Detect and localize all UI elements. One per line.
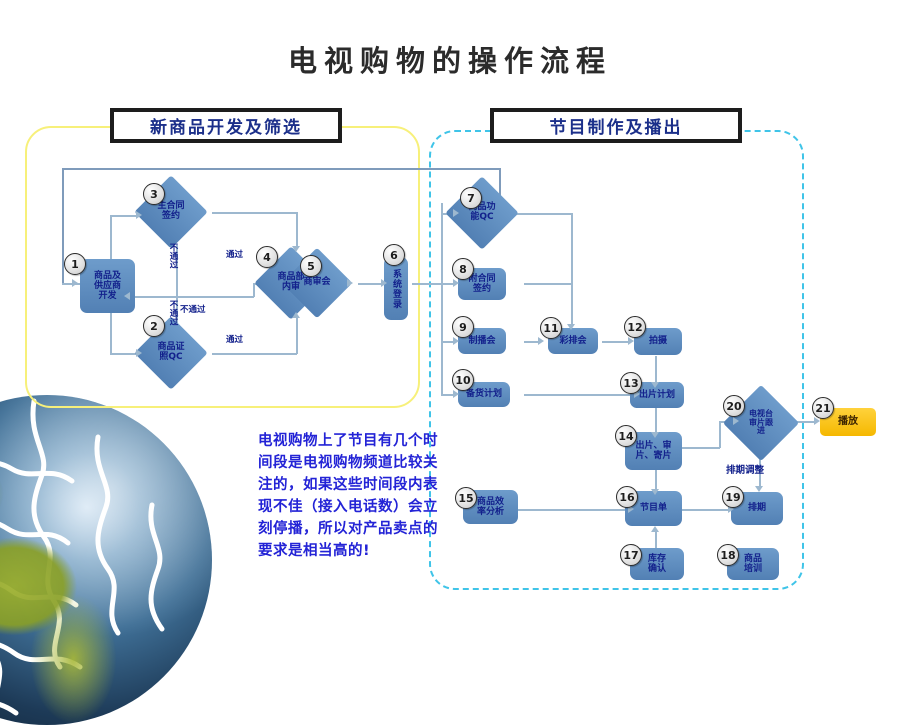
node-6-box[interactable]: 系统登录 — [384, 257, 408, 320]
node-14-badge: 14 — [615, 425, 637, 447]
arrow-n14-n16 — [651, 489, 659, 495]
connector-n14-n20-h — [682, 447, 720, 449]
node-1-label: 商品及 供应商 开发 — [94, 271, 121, 301]
globe-puzzle-image — [0, 395, 212, 725]
node-18-label: 商品 培训 — [744, 554, 762, 574]
node-1-badge: 1 — [64, 253, 86, 275]
node-13-badge: 13 — [620, 372, 642, 394]
node-6-label: 系统登录 — [391, 269, 401, 309]
node-19-label: 排期 — [748, 503, 766, 513]
connector-n2-n4-v — [296, 318, 298, 354]
node-12-badge: 12 — [624, 316, 646, 338]
connector-n14-n20-v — [719, 421, 721, 448]
connector-n16-n19-h — [682, 509, 730, 511]
connector-n14-n16-v — [655, 469, 657, 491]
annotation-text: 电视购物上了节目有几个时间段是电视购物频道比较关注的，如果这些时间段内表现不佳（… — [258, 430, 438, 562]
arrow-n11-n12 — [628, 337, 634, 345]
node-11-badge: 11 — [540, 317, 562, 339]
connector-n8-n11-h — [524, 283, 572, 285]
node-6-badge: 6 — [383, 244, 405, 266]
connector-n13-n14-v — [655, 408, 657, 434]
connector-n7-n11-v — [571, 213, 573, 326]
connector-n3-n4-h — [212, 212, 297, 214]
arrow-n5-n6 — [381, 279, 387, 287]
node-18-badge: 18 — [717, 544, 739, 566]
node-3-badge: 3 — [143, 183, 165, 205]
node-12-label: 拍摄 — [649, 336, 667, 346]
arrow-loop-to-node1 — [72, 279, 78, 287]
node-20-badge: 20 — [723, 395, 745, 417]
arrow-n7-n11 — [567, 324, 575, 330]
node-16-badge: 16 — [616, 486, 638, 508]
node-11-label: 彩排会 — [559, 336, 586, 346]
arrow-fail-to-node1 — [124, 292, 130, 300]
globe-highlight — [0, 395, 212, 725]
node-8-badge: 8 — [452, 258, 474, 280]
page-title: 电视购物的操作流程 — [0, 38, 900, 80]
arrow-n20-n19 — [755, 486, 763, 492]
node-13-label: 出片计划 — [639, 390, 675, 400]
connector-n6-trunk-h — [412, 283, 442, 285]
edge-label-pass-2-4: 通过 — [226, 333, 243, 345]
connector-fail-rail-h — [128, 296, 254, 298]
node-5-badge: 5 — [300, 255, 322, 277]
node-2-badge: 2 — [143, 315, 165, 337]
arrow-n1-n2 — [136, 349, 142, 357]
connector-n10-n13-h — [524, 394, 636, 396]
connector-n1-n2-h — [110, 353, 138, 355]
connector-n15-n16-h — [518, 509, 630, 511]
section-header-left: 新商品开发及筛选 — [110, 108, 342, 143]
arrow-trunk-n9 — [453, 337, 459, 345]
puzzle-lines-icon — [0, 395, 212, 725]
node-9-label: 制播会 — [468, 336, 495, 346]
edge-label-schedule-adjust: 排期调整 — [726, 462, 764, 476]
arrow-n14-n20 — [733, 417, 739, 425]
node-17-badge: 17 — [620, 544, 642, 566]
connector-n11-n12-h — [602, 341, 630, 343]
section-header-right: 节目制作及播出 — [490, 108, 742, 143]
node-15-badge: 15 — [455, 487, 477, 509]
arrow-n3-n4 — [292, 246, 300, 252]
arrow-trunk-n10 — [453, 390, 459, 398]
connector-loop-top-h — [62, 168, 500, 170]
edge-label-pass-3-4: 通过 — [226, 248, 243, 260]
node-15-label: 商品效 率分析 — [477, 497, 504, 517]
node-9-badge: 9 — [452, 316, 474, 338]
arrow-n12-n13 — [651, 382, 659, 388]
node-4-badge: 4 — [256, 246, 278, 268]
arrow-trunk-n8 — [453, 279, 459, 287]
connector-n4-fail-v — [253, 283, 255, 297]
slide-canvas: 电视购物的操作流程 新商品开发及筛选 节目制作及播出 — [0, 0, 900, 675]
node-10-badge: 10 — [452, 369, 474, 391]
arrow-n17-n16 — [651, 526, 659, 532]
edge-label-fail-2-1: 不通过 — [167, 300, 179, 326]
node-17-label: 库存 确认 — [648, 554, 666, 574]
arrow-n13-n14 — [651, 432, 659, 438]
node-21-label: 播放 — [838, 416, 858, 427]
arrow-n4-n5 — [347, 279, 353, 287]
connector-n17-n16-v — [655, 530, 657, 548]
connector-n2-n4-h — [212, 353, 297, 355]
arrow-n2-n4 — [292, 312, 300, 318]
connector-n1-n3-h — [110, 215, 138, 217]
node-1-box[interactable]: 商品及 供应商 开发 — [80, 259, 135, 313]
arrow-n9-n11 — [538, 337, 544, 345]
edge-label-fail-4-1: 不通过 — [180, 303, 206, 315]
connector-n12-n13-v — [655, 356, 657, 384]
arrow-n1-n3 — [136, 211, 142, 219]
node-19-badge: 19 — [722, 486, 744, 508]
node-21-badge: 21 — [812, 397, 834, 419]
node-10-label: 备货计划 — [466, 389, 502, 399]
node-8-label: 附合同 签约 — [468, 274, 495, 294]
edge-label-fail-3-1: 不通过 — [167, 243, 179, 269]
connector-right-trunk-v — [441, 203, 443, 396]
arrow-trunk-n7 — [453, 209, 459, 217]
node-14-label: 出片、审 片、寄片 — [635, 441, 671, 461]
node-16-label: 节目单 — [640, 503, 667, 513]
node-7-badge: 7 — [460, 187, 482, 209]
connector-n3-n4-v — [296, 212, 298, 248]
